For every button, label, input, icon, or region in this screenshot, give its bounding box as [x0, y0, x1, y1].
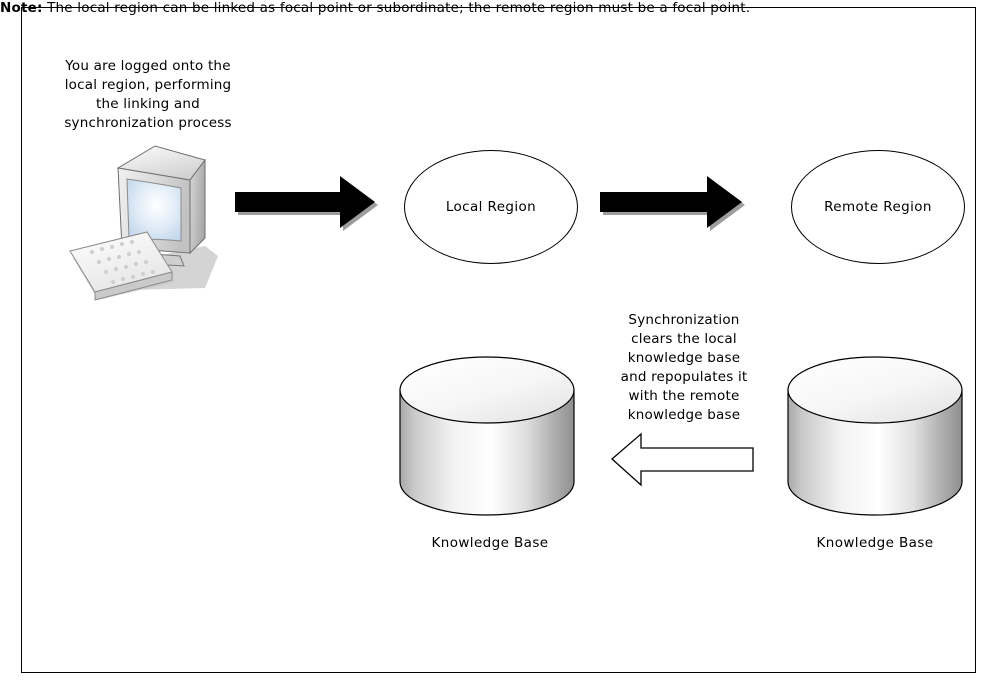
knowledge-base-left-label: Knowledge Base — [390, 535, 590, 551]
caption-synchronization-description: Synchronization clears the local knowled… — [598, 311, 770, 425]
knowledge-base-right-label: Knowledge Base — [775, 535, 975, 551]
diagram-canvas: You are logged onto the local region, pe… — [0, 0, 998, 683]
caption-login-description: You are logged onto the local region, pe… — [40, 57, 256, 133]
node-remote-region: Remote Region — [791, 150, 965, 264]
node-remote-region-label: Remote Region — [824, 199, 932, 215]
node-local-region-label: Local Region — [446, 199, 536, 215]
node-local-region: Local Region — [404, 150, 578, 264]
